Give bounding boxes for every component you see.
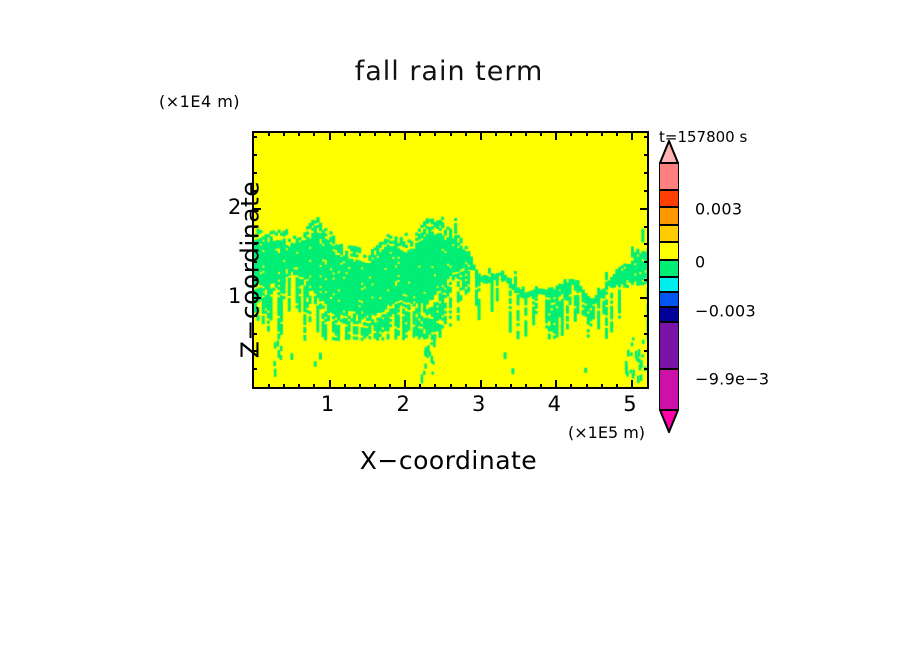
x-tick-top-major <box>631 131 633 140</box>
x-tick-minor <box>525 384 527 389</box>
x-tick-minor <box>465 384 467 389</box>
y-tick-right-minor <box>644 226 649 228</box>
x-tick-minor <box>450 384 452 389</box>
plot-area <box>252 131 649 389</box>
colorbar-band <box>659 162 679 190</box>
colorbar-tick-label: 0.003 <box>695 200 742 219</box>
heatmap-canvas <box>254 133 647 387</box>
x-tick-minor <box>313 384 315 389</box>
x-tick-top-minor <box>510 131 512 136</box>
y-tick-minor <box>252 136 257 138</box>
x-tick-top-minor <box>298 131 300 136</box>
colorbar-tick-label: 0 <box>695 252 705 271</box>
y-tick-right-minor <box>644 154 649 156</box>
colorbar-band <box>659 190 679 207</box>
x-tick-minor <box>540 384 542 389</box>
y-tick-right-major <box>640 297 649 299</box>
x-tick-major <box>480 380 482 389</box>
x-tick-minor <box>268 384 270 389</box>
x-tick-top-minor <box>419 131 421 136</box>
x-tick-top-minor <box>313 131 315 136</box>
x-tick-top-major <box>329 131 331 140</box>
colorbar-tick-label: −9.9e−3 <box>695 369 769 388</box>
colorbar-band <box>659 277 679 292</box>
y-tick-right-major <box>640 208 649 210</box>
x-tick-minor <box>359 384 361 389</box>
x-tick-top-minor <box>586 131 588 136</box>
colorbar-band <box>659 207 679 224</box>
x-tick-top-minor <box>465 131 467 136</box>
x-tick-top-minor <box>344 131 346 136</box>
x-tick-label: 2 <box>396 392 409 416</box>
x-tick-top-major <box>404 131 406 140</box>
y-tick-right-minor <box>644 350 649 352</box>
x-tick-minor <box>298 384 300 389</box>
x-tick-major <box>329 380 331 389</box>
y-tick-right-minor <box>644 261 649 263</box>
x-tick-top-minor <box>525 131 527 136</box>
x-tick-minor <box>419 384 421 389</box>
colorbar-band <box>659 242 679 259</box>
colorbar-arrow-up <box>659 140 679 164</box>
x-tick-major <box>631 380 633 389</box>
y-tick-right-minor <box>644 243 649 245</box>
x-tick-top-minor <box>389 131 391 136</box>
y-tick-right-minor <box>644 315 649 317</box>
x-tick-top-minor <box>434 131 436 136</box>
x-tick-minor <box>495 384 497 389</box>
colorbar-band <box>659 225 679 242</box>
x-tick-label: 1 <box>321 392 334 416</box>
colorbar-arrow-down <box>659 409 679 433</box>
x-tick-minor <box>570 384 572 389</box>
y-axis-title: Z−coordinate <box>236 170 265 370</box>
y-tick-right-minor <box>644 172 649 174</box>
y-axis-unit-label: (×1E4 m) <box>159 92 240 111</box>
x-tick-minor <box>510 384 512 389</box>
x-tick-top-minor <box>495 131 497 136</box>
x-tick-top-minor <box>268 131 270 136</box>
x-tick-top-minor <box>283 131 285 136</box>
colorbar-tick-label: −0.003 <box>695 301 756 320</box>
x-tick-top-minor <box>374 131 376 136</box>
y-tick-minor <box>252 154 257 156</box>
x-tick-top-minor <box>601 131 603 136</box>
x-tick-top-major <box>555 131 557 140</box>
colorbar <box>659 162 679 410</box>
x-tick-top-minor <box>616 131 618 136</box>
x-tick-minor <box>374 384 376 389</box>
x-tick-top-minor <box>359 131 361 136</box>
y-tick-right-minor <box>644 333 649 335</box>
x-tick-top-minor <box>570 131 572 136</box>
page-title: fall rain term <box>252 56 646 87</box>
x-tick-minor <box>601 384 603 389</box>
colorbar-band <box>659 260 679 277</box>
x-tick-minor <box>434 384 436 389</box>
y-tick-right-minor <box>644 136 649 138</box>
x-tick-top-minor <box>540 131 542 136</box>
x-tick-minor <box>586 384 588 389</box>
x-tick-minor <box>389 384 391 389</box>
y-tick-right-minor <box>644 279 649 281</box>
x-tick-major <box>555 380 557 389</box>
y-tick-right-minor <box>644 190 649 192</box>
x-tick-minor <box>344 384 346 389</box>
x-axis-title: X−coordinate <box>252 446 645 475</box>
x-tick-label: 3 <box>472 392 485 416</box>
x-tick-label: 5 <box>623 392 636 416</box>
x-tick-label: 4 <box>548 392 561 416</box>
x-tick-minor <box>283 384 285 389</box>
colorbar-band <box>659 307 679 322</box>
x-tick-major <box>404 380 406 389</box>
x-axis-unit-label: (×1E5 m) <box>568 423 645 442</box>
y-tick-right-minor <box>644 368 649 370</box>
x-tick-minor <box>616 384 618 389</box>
x-tick-top-minor <box>450 131 452 136</box>
colorbar-band <box>659 322 679 369</box>
colorbar-band <box>659 292 679 307</box>
x-tick-top-major <box>480 131 482 140</box>
figure-root: fall rain term (×1E4 m) 1234512 (×1E5 m)… <box>0 0 904 654</box>
colorbar-band <box>659 369 679 410</box>
